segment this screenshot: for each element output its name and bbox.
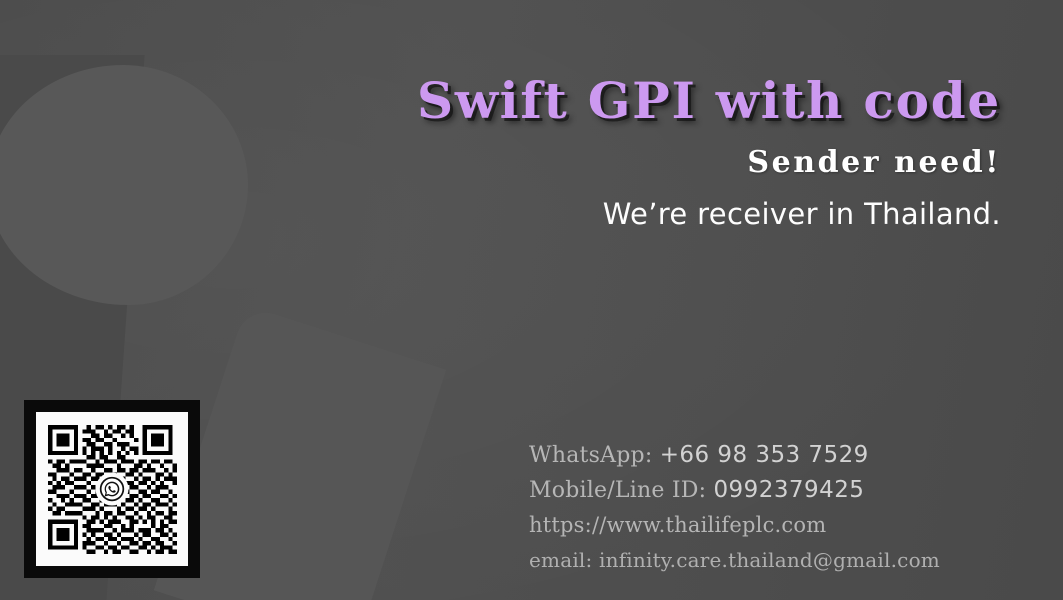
contact-line-mobile: Mobile/Line ID: 0992379425	[529, 473, 940, 508]
business-card-poster: Swift GPI with code Sender need! We’re r…	[0, 0, 1063, 600]
qr-code-quiet-zone	[36, 412, 188, 566]
mobile-number[interactable]: 0992379425	[713, 477, 864, 503]
contact-line-whatsapp: WhatsApp: +66 98 353 7529	[529, 438, 940, 473]
headline-subtitle: Sender need!	[417, 146, 1001, 179]
email-address[interactable]: email: infinity.care.thailand@gmail.com	[529, 543, 940, 578]
mobile-label: Mobile/Line ID:	[529, 478, 706, 503]
headline-tagline: We’re receiver in Thailand.	[417, 199, 1001, 231]
whatsapp-icon	[96, 473, 129, 506]
qr-code-frame[interactable]	[24, 400, 200, 578]
contact-block: WhatsApp: +66 98 353 7529 Mobile/Line ID…	[529, 438, 940, 578]
headline-block: Swift GPI with code Sender need! We’re r…	[417, 74, 1001, 231]
watermark-letter-bowl	[0, 65, 248, 305]
whatsapp-label: WhatsApp:	[529, 443, 652, 468]
page-title: Swift GPI with code	[417, 74, 1001, 127]
website-link[interactable]: https://www.thailifeplc.com	[529, 508, 940, 543]
whatsapp-number[interactable]: +66 98 353 7529	[660, 442, 869, 468]
